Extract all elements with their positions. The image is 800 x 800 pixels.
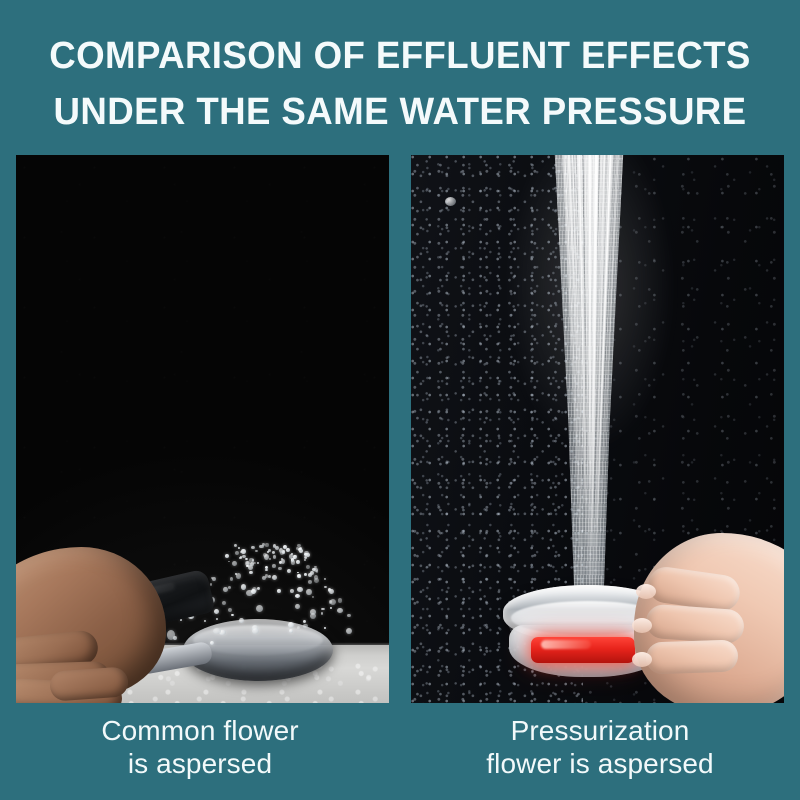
right-photo-panel <box>411 155 784 703</box>
water-droplet <box>287 569 292 574</box>
water-droplet <box>269 558 271 560</box>
right-hand-finger-2 <box>645 604 745 645</box>
page-title: COMPARISON OF EFFLUENT EFFECTS UNDER THE… <box>0 28 800 140</box>
water-droplet <box>310 571 314 575</box>
right-hand-nail-1 <box>636 584 656 599</box>
water-droplet <box>346 628 352 634</box>
led-indicator-highlight <box>541 640 591 649</box>
water-droplet <box>231 614 234 617</box>
water-droplet <box>235 551 239 555</box>
water-droplet <box>225 554 229 558</box>
water-droplet <box>296 560 300 564</box>
title-line-1: COMPARISON OF EFFLUENT EFFECTS <box>14 28 786 84</box>
water-droplet <box>286 548 290 552</box>
product-comparison-infographic: COMPARISON OF EFFLUENT EFFECTS UNDER THE… <box>0 0 800 800</box>
water-droplet <box>211 577 213 579</box>
left-panel-caption: Common flower is aspersed <box>0 706 400 800</box>
water-droplet <box>241 549 246 553</box>
water-droplet <box>255 550 258 553</box>
water-droplet <box>228 586 231 589</box>
water-droplet <box>252 628 259 634</box>
right-caption-line-1: Pressurization <box>511 714 690 747</box>
water-droplet <box>234 544 237 547</box>
water-droplet <box>257 587 260 591</box>
water-droplet <box>230 577 233 581</box>
water-droplet <box>238 547 240 549</box>
water-droplet <box>277 589 280 593</box>
water-droplet <box>324 627 326 629</box>
water-droplet <box>288 622 294 628</box>
water-droplet <box>324 578 326 580</box>
water-droplet <box>304 573 306 576</box>
water-droplet <box>239 557 241 559</box>
water-droplet <box>249 571 253 574</box>
water-droplet <box>295 594 300 598</box>
water-droplet <box>228 561 230 563</box>
water-droplet <box>330 607 332 610</box>
left-caption-line-2: is aspersed <box>128 747 272 780</box>
water-droplet <box>262 576 266 580</box>
water-droplet <box>314 575 318 580</box>
water-droplet <box>180 619 182 621</box>
water-droplet <box>222 601 226 605</box>
water-droplet <box>272 575 277 580</box>
right-panel-caption: Pressurization flower is aspersed <box>400 706 800 800</box>
water-droplet <box>210 583 213 586</box>
water-droplet <box>290 589 294 593</box>
water-droplet <box>236 573 242 579</box>
water-droplet <box>338 598 343 603</box>
water-droplet <box>257 562 259 564</box>
water-droplet <box>306 589 311 595</box>
water-droplet <box>312 596 314 598</box>
water-droplet <box>297 626 300 630</box>
left-photo-panel <box>16 155 389 703</box>
water-droplet <box>256 605 263 612</box>
water-droplet <box>239 618 243 623</box>
right-hand-finger-3 <box>645 639 738 674</box>
left-hand-thumb <box>49 666 129 701</box>
right-hand-nail-3 <box>632 652 652 667</box>
title-line-2: UNDER THE SAME WATER PRESSURE <box>14 84 786 140</box>
water-droplet <box>265 569 268 572</box>
water-droplet <box>306 565 310 569</box>
water-droplet <box>303 624 308 629</box>
water-droplet <box>308 580 312 584</box>
water-droplet <box>216 618 218 620</box>
water-droplet <box>293 555 297 558</box>
water-droplet <box>272 564 276 568</box>
water-droplet <box>316 570 319 573</box>
water-droplet <box>272 551 275 554</box>
water-droplet <box>321 612 324 615</box>
water-droplet <box>337 608 343 613</box>
right-caption-line-2: flower is aspersed <box>486 747 713 780</box>
water-droplet <box>167 630 175 639</box>
water-droplet <box>228 608 232 612</box>
water-droplet <box>347 614 351 618</box>
water-droplet <box>232 561 237 566</box>
water-droplet <box>281 558 283 560</box>
comparison-panels <box>16 155 784 703</box>
water-droplet <box>245 558 248 560</box>
water-droplet <box>210 641 214 645</box>
water-droplet <box>241 584 247 590</box>
water-droplet <box>303 620 306 623</box>
water-droplet <box>268 549 271 552</box>
water-droplet <box>250 562 254 566</box>
water-droplet <box>262 543 265 546</box>
water-droplet <box>297 587 303 593</box>
left-caption-line-1: Common flower <box>101 714 298 747</box>
water-droplet <box>321 608 325 611</box>
water-droplet <box>299 547 303 551</box>
water-droplet <box>212 577 216 581</box>
water-droplet <box>214 609 219 614</box>
water-droplet <box>297 574 301 579</box>
water-droplet <box>289 629 293 633</box>
water-droplet <box>268 575 271 578</box>
water-droplet <box>295 604 300 610</box>
right-hand-nail-2 <box>632 618 652 633</box>
panel-captions: Common flower is aspersed Pressurization… <box>0 706 800 800</box>
water-droplet <box>304 551 309 556</box>
water-droplet <box>324 586 327 589</box>
water-droplet <box>279 561 282 565</box>
water-droplet <box>251 546 254 549</box>
water-droplet <box>278 567 282 570</box>
water-droplet <box>445 197 456 206</box>
water-droplet <box>265 543 268 546</box>
water-droplet <box>273 555 276 559</box>
water-droplet <box>204 620 206 622</box>
